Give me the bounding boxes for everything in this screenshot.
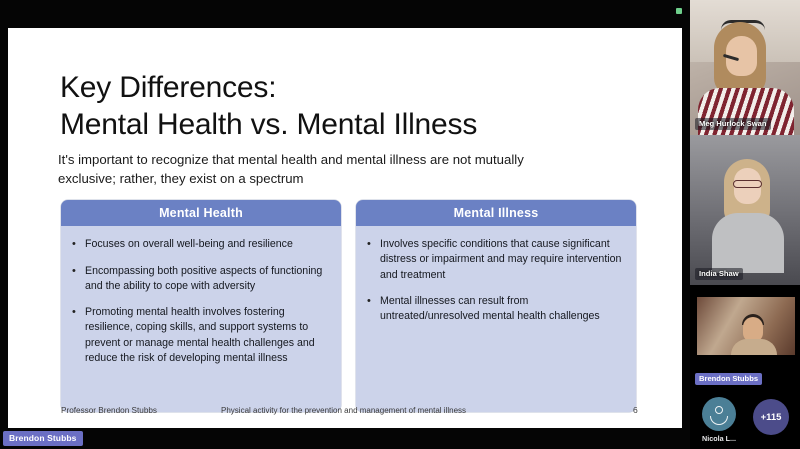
panel-header-left: Mental Health [61, 200, 341, 226]
participant-video-feed [690, 135, 800, 285]
bullet-text: Mental illnesses can result from untreat… [380, 294, 623, 325]
panel-body-left: • Focuses on overall well-being and resi… [61, 226, 341, 385]
meeting-window: Key Differences: Mental Health vs. Menta… [0, 0, 800, 449]
bullet-item: • Involves specific conditions that caus… [367, 237, 623, 283]
participant-avatar-row[interactable]: Nicola L... +115 [690, 391, 800, 449]
participant-name-label: Meg Hurlock Swan [695, 118, 771, 130]
avatar-name-label: Nicola L... [693, 434, 745, 443]
footer-page-number: 6 [633, 405, 638, 415]
presentation-slide: Key Differences: Mental Health vs. Menta… [8, 28, 682, 428]
overflow-count-badge[interactable]: +115 [753, 399, 789, 435]
bullet-marker: • [367, 237, 380, 283]
bullet-text: Encompassing both positive aspects of fu… [85, 264, 328, 295]
participant-tile[interactable]: Brendon Stubbs [690, 285, 800, 390]
comparison-panel-mental-illness: Mental Illness • Involves specific condi… [356, 200, 636, 412]
footer-author: Professor Brendon Stubbs [61, 406, 157, 415]
participant-tile[interactable]: Meg Hurlock Swan [690, 0, 800, 135]
bullet-item: • Encompassing both positive aspects of … [72, 264, 328, 295]
panel-header-right: Mental Illness [356, 200, 636, 226]
bullet-marker: • [72, 305, 85, 366]
bullet-marker: • [72, 264, 85, 295]
slide-title: Key Differences: Mental Health vs. Menta… [60, 70, 640, 144]
overflow-participants-button[interactable]: +115 [745, 399, 797, 435]
active-speaker-name-chip: Brendon Stubbs [3, 431, 83, 446]
overflow-count-label: +115 [761, 412, 782, 423]
person-icon [710, 406, 728, 423]
participant-video-feed [690, 0, 800, 135]
bullet-marker: • [367, 294, 380, 325]
screen-share-indicator-icon [676, 8, 682, 14]
bullet-text: Promoting mental health involves fosteri… [85, 305, 328, 366]
avatar[interactable] [702, 397, 736, 431]
bullet-item: • Mental illnesses can result from untre… [367, 294, 623, 325]
slide-footer: Professor Brendon Stubbs Physical activi… [8, 402, 682, 418]
shared-content-stage[interactable]: Key Differences: Mental Health vs. Menta… [0, 0, 690, 449]
participant-filmstrip[interactable]: Meg Hurlock Swan India Shaw Brendon Stub… [690, 0, 800, 449]
participant-avatar[interactable]: Nicola L... [693, 397, 745, 443]
bullet-text: Involves specific conditions that cause … [380, 237, 623, 283]
panel-body-right: • Involves specific conditions that caus… [356, 226, 636, 343]
comparison-panel-mental-health: Mental Health • Focuses on overall well-… [61, 200, 341, 412]
bullet-item: • Focuses on overall well-being and resi… [72, 237, 328, 253]
slide-lead-text: It's important to recognize that mental … [58, 150, 603, 188]
bullet-marker: • [72, 237, 85, 253]
participant-name-label: Brendon Stubbs [695, 373, 762, 385]
participant-name-label: India Shaw [695, 268, 743, 280]
bullet-item: • Promoting mental health involves foste… [72, 305, 328, 366]
footer-presentation-title: Physical activity for the prevention and… [221, 406, 466, 415]
participant-tile[interactable]: India Shaw [690, 135, 800, 285]
bullet-text: Focuses on overall well-being and resili… [85, 237, 293, 253]
